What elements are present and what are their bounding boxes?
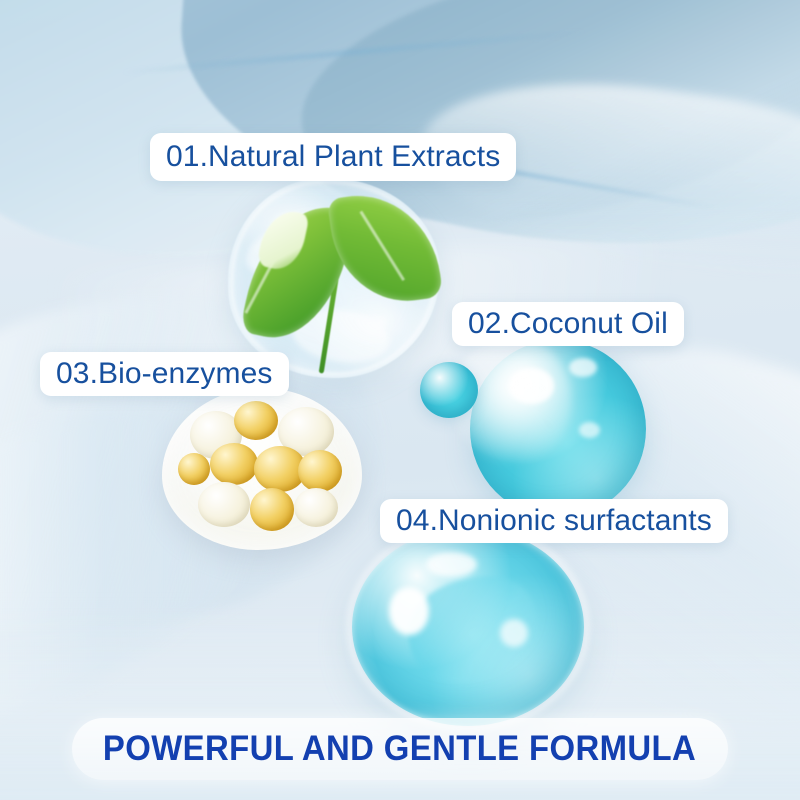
bead-highlight — [569, 358, 597, 378]
enzyme-granule — [294, 488, 338, 527]
background-cream-strip — [430, 0, 730, 26]
coconut-oil-droplet-visual — [420, 362, 478, 418]
leaf-vein — [359, 211, 404, 281]
bead-highlight — [579, 422, 600, 438]
headline-text: POWERFUL AND GENTLE FORMULA — [103, 729, 696, 769]
enzyme-granule — [250, 488, 294, 530]
capsule-rim — [231, 181, 437, 375]
sphere-gel-swirl — [398, 567, 546, 695]
coconut-oil-bead-visual — [470, 340, 646, 518]
ingredient-label-4: 04.Nonionic surfactants — [380, 499, 728, 543]
green-leaf-icon — [240, 194, 356, 349]
ingredient-label-1-text: 01.Natural Plant Extracts — [166, 140, 500, 174]
ingredient-label-4-text: 04.Nonionic surfactants — [396, 504, 712, 538]
enzyme-granule — [298, 450, 342, 492]
enzyme-granule — [254, 446, 306, 491]
enzyme-granule — [234, 401, 278, 440]
sphere-shell — [346, 522, 590, 732]
headline-banner: POWERFUL AND GENTLE FORMULA — [72, 718, 728, 780]
bead-highlight — [509, 368, 555, 404]
sphere-highlight — [500, 619, 528, 647]
background-silk-edge-line — [121, 25, 639, 74]
ingredient-label-3-text: 03.Bio-enzymes — [56, 357, 273, 391]
leaf-stem — [318, 254, 342, 373]
enzyme-granule — [198, 482, 250, 527]
sphere-highlight — [426, 552, 477, 578]
leaf-highlight — [256, 206, 310, 274]
enzyme-granule — [178, 453, 210, 485]
ingredient-label-2: 02.Coconut Oil — [452, 302, 684, 346]
nonionic-surfactant-sphere-visual — [352, 528, 584, 726]
background-silk-fold-right — [283, 0, 800, 257]
product-ingredient-poster: 01.Natural Plant Extracts 02.Coconut Oil… — [0, 0, 800, 800]
capsule-facet — [240, 220, 322, 284]
ingredient-label-2-text: 02.Coconut Oil — [468, 307, 668, 341]
bead-soft-veil — [452, 336, 572, 466]
capsule-facet — [339, 196, 417, 268]
sphere-highlight — [389, 587, 428, 635]
leaf-vein — [245, 216, 299, 314]
background-fold-lower-left — [0, 242, 412, 688]
enzyme-granule — [278, 407, 334, 456]
enzyme-granule — [190, 411, 242, 460]
plant-extract-capsule-visual — [228, 178, 440, 378]
bio-enzyme-capsule-visual — [162, 388, 362, 550]
capsule-facet — [288, 303, 392, 368]
background-fold-lower-left-2 — [0, 359, 311, 761]
enzyme-granule — [210, 443, 258, 485]
green-leaf-icon — [327, 185, 443, 310]
ingredient-label-1: 01.Natural Plant Extracts — [150, 133, 516, 181]
ingredient-label-3: 03.Bio-enzymes — [40, 352, 289, 396]
